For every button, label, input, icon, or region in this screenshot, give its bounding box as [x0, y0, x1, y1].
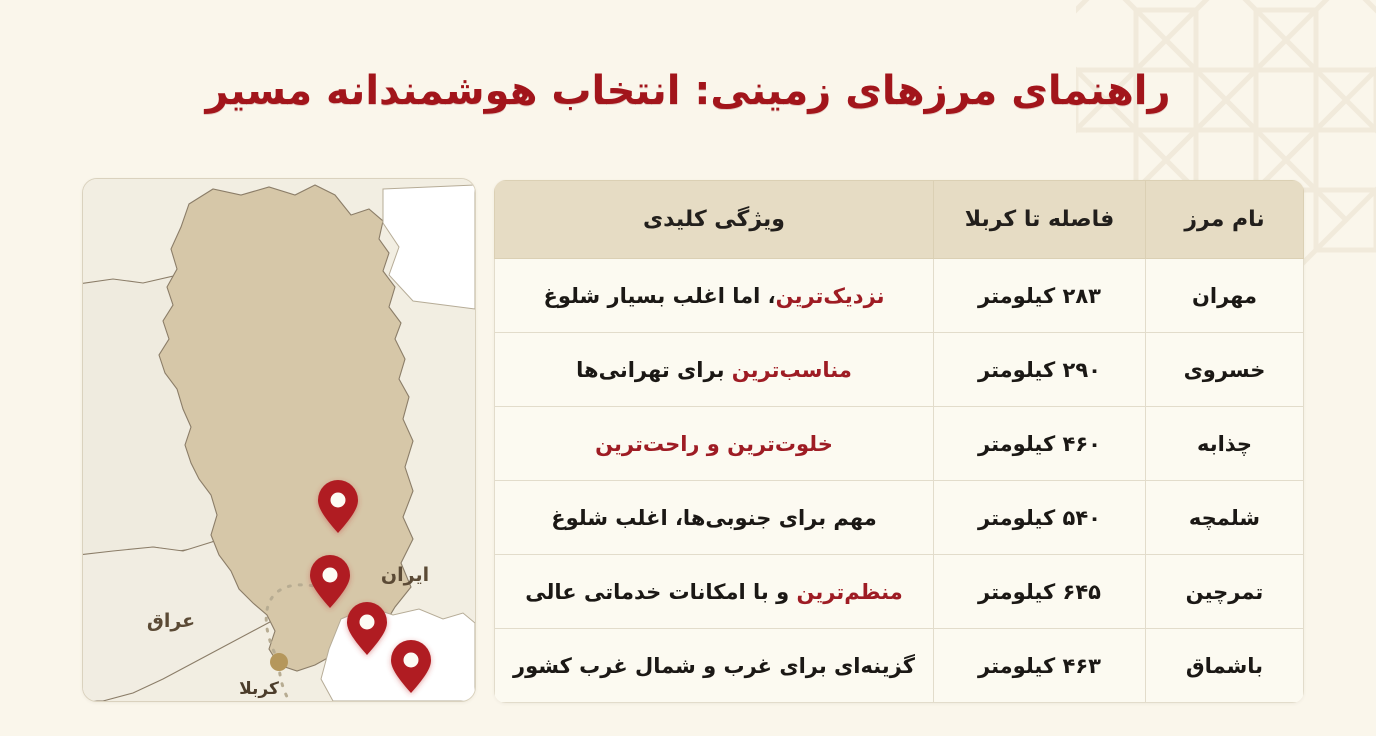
table-row: خسروی۲۹۰ کیلومترمناسب‌ترین برای تهرانی‌ه… [495, 333, 1304, 407]
page-title: راهنمای مرزهای زمینی: انتخاب هوشمندانه م… [90, 62, 1286, 120]
cell-distance: ۴۶۳ کیلومتر [934, 629, 1146, 703]
feature-text: ، اما اغلب بسیار شلوغ [543, 284, 775, 308]
feature-text: گزینه‌ای برای غرب و شمال غرب کشور [513, 654, 915, 678]
table-row: چذابه۴۶۰ کیلومترخلوت‌ترین و راحت‌ترین [495, 407, 1304, 481]
table-body: مهران۲۸۳ کیلومترنزدیک‌ترین، اما اغلب بسی… [495, 259, 1304, 703]
cell-key-feature: منظم‌ترین و با امکانات خدماتی عالی [495, 555, 934, 629]
cell-distance: ۲۹۰ کیلومتر [934, 333, 1146, 407]
feature-highlight: مناسب‌ترین [732, 358, 852, 382]
feature-highlight: منظم‌ترین [796, 580, 902, 604]
cell-border-name: شلمچه [1146, 481, 1304, 555]
feature-text: برای تهرانی‌ها [576, 358, 732, 382]
header-distance: فاصله تا کربلا [934, 181, 1146, 259]
cell-border-name: تمرچین [1146, 555, 1304, 629]
map-card: کربلا ایران عراق [82, 178, 476, 702]
cell-border-name: چذابه [1146, 407, 1304, 481]
cell-border-name: باشماق [1146, 629, 1304, 703]
table-row: شلمچه۵۴۰ کیلومترمهم برای جنوبی‌ها، اغلب … [495, 481, 1304, 555]
borders-table: نام مرز فاصله تا کربلا ویژگی کلیدی مهران… [494, 180, 1304, 703]
page-title-container: راهنمای مرزهای زمینی: انتخاب هوشمندانه م… [0, 62, 1376, 120]
iran-label: ایران [381, 564, 429, 586]
iraq-label: عراق [147, 610, 195, 632]
header-key-feature: ویژگی کلیدی [495, 181, 934, 259]
table-row: باشماق۴۶۳ کیلومترگزینه‌ای برای غرب و شما… [495, 629, 1304, 703]
table-row: مهران۲۸۳ کیلومترنزدیک‌ترین، اما اغلب بسی… [495, 259, 1304, 333]
cell-key-feature: مناسب‌ترین برای تهرانی‌ها [495, 333, 934, 407]
karbala-label: کربلا [239, 679, 279, 699]
feature-text: مهم برای جنوبی‌ها، اغلب شلوغ [551, 506, 876, 530]
feature-highlight: خلوت‌ترین و راحت‌ترین [595, 432, 833, 456]
cell-key-feature: نزدیک‌ترین، اما اغلب بسیار شلوغ [495, 259, 934, 333]
cell-distance: ۵۴۰ کیلومتر [934, 481, 1146, 555]
cell-distance: ۲۸۳ کیلومتر [934, 259, 1146, 333]
cell-key-feature: مهم برای جنوبی‌ها، اغلب شلوغ [495, 481, 934, 555]
header-border-name: نام مرز [1146, 181, 1304, 259]
feature-highlight: نزدیک‌ترین [776, 284, 885, 308]
cell-distance: ۴۶۰ کیلومتر [934, 407, 1146, 481]
cell-border-name: خسروی [1146, 333, 1304, 407]
feature-text: و با امکانات خدماتی عالی [525, 580, 796, 604]
cell-key-feature: خلوت‌ترین و راحت‌ترین [495, 407, 934, 481]
karbala-marker [270, 653, 288, 671]
cell-distance: ۶۴۵ کیلومتر [934, 555, 1146, 629]
table-header-row: نام مرز فاصله تا کربلا ویژگی کلیدی [495, 181, 1304, 259]
table-row: تمرچین۶۴۵ کیلومترمنظم‌ترین و با امکانات … [495, 555, 1304, 629]
borders-table-container: نام مرز فاصله تا کربلا ویژگی کلیدی مهران… [494, 180, 1304, 703]
cell-border-name: مهران [1146, 259, 1304, 333]
cell-key-feature: گزینه‌ای برای غرب و شمال غرب کشور [495, 629, 934, 703]
